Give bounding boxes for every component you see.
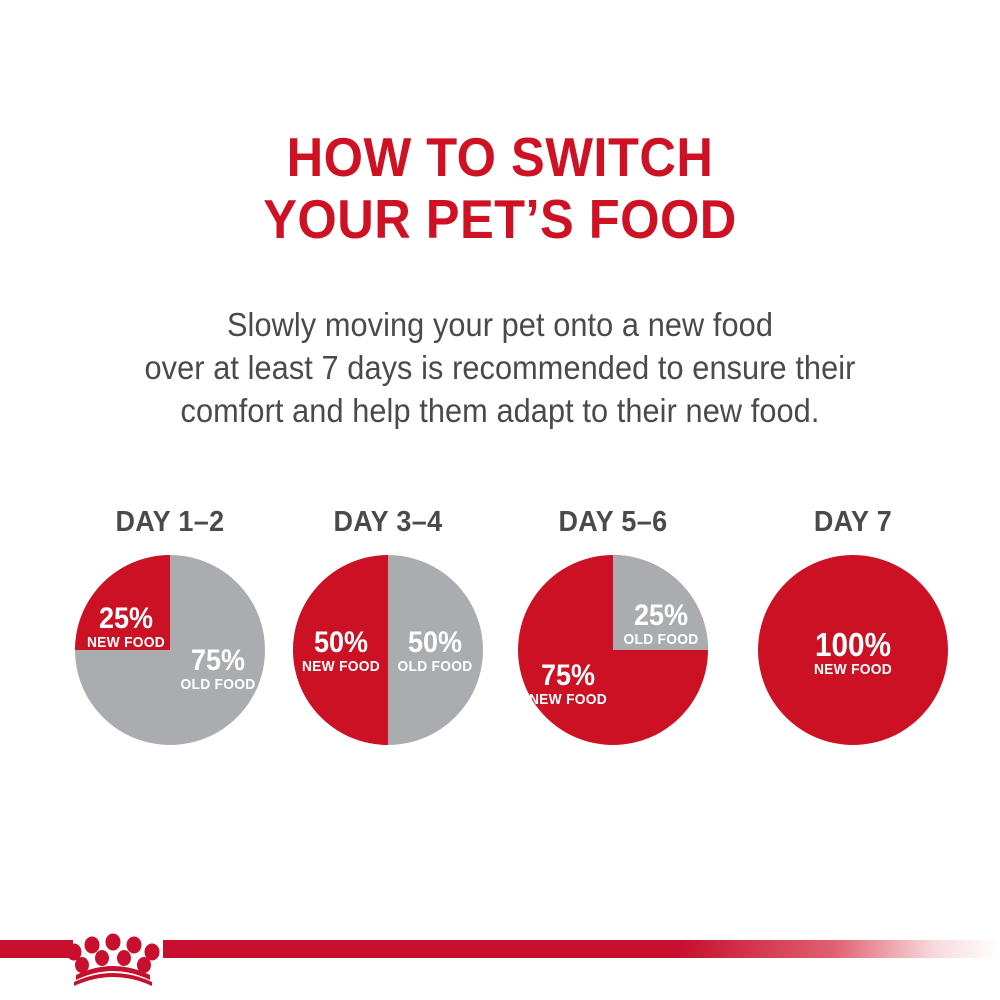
crown-icon (60, 922, 166, 988)
day-label-2: DAY 5–6 (506, 505, 720, 539)
pie-chart-row: DAY 1–2 25% NEW FOOD 75% OLD FOOD DAY 3–… (0, 505, 1000, 775)
pie-svg-1 (292, 554, 484, 746)
pie-svg-3 (757, 554, 949, 746)
day-label-3: DAY 7 (746, 505, 960, 539)
footer-bar-right (163, 940, 1000, 958)
pie-chart-day-5-6: DAY 5–6 25% OLD FOOD 75% NEW FOOD (498, 505, 728, 775)
pie-chart-day-7: DAY 7 100% NEW FOOD (738, 505, 968, 775)
intro-line-3: comfort and help them adapt to their new… (35, 389, 965, 432)
pie-slice-old-food-2 (613, 555, 708, 650)
intro-line-1: Slowly moving your pet onto a new food (35, 303, 965, 346)
page-title-line-1: HOW TO SWITCH (40, 126, 960, 188)
pie-svg-0 (74, 554, 266, 746)
intro-line-2: over at least 7 days is recommended to e… (35, 346, 965, 389)
pie-svg-2 (517, 554, 709, 746)
pie-chart-day-1-2: DAY 1–2 25% NEW FOOD 75% OLD FOOD (55, 505, 285, 775)
day-label-1: DAY 3–4 (281, 505, 495, 539)
intro-paragraph: Slowly moving your pet onto a new food o… (0, 303, 1000, 432)
pie-slice-new-food-0 (75, 555, 170, 650)
pie-graphic-0: 25% NEW FOOD 75% OLD FOOD (74, 554, 266, 746)
pie-graphic-3: 100% NEW FOOD (757, 554, 949, 746)
footer (0, 934, 1000, 1000)
pie-slice-new-food-3 (758, 555, 948, 745)
day-label-0: DAY 1–2 (63, 505, 277, 539)
pie-graphic-1: 50% NEW FOOD 50% OLD FOOD (292, 554, 484, 746)
pie-graphic-2: 25% OLD FOOD 75% NEW FOOD (517, 554, 709, 746)
royal-canin-crown-logo (60, 922, 166, 988)
page-title-line-2: YOUR PET’S FOOD (40, 188, 960, 250)
page-title: HOW TO SWITCH YOUR PET’S FOOD (0, 126, 1000, 250)
pie-chart-day-3-4: DAY 3–4 50% NEW FOOD 50% OLD FOOD (273, 505, 503, 775)
pie-slice-new-food-1 (293, 555, 388, 745)
